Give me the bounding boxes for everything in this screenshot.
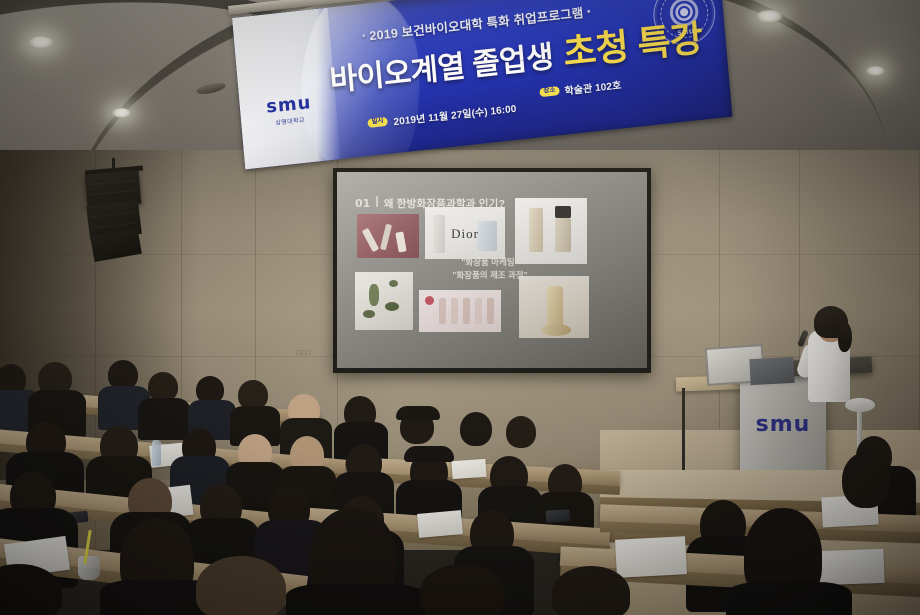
slide-image-dior-perfume: Dior <box>425 207 505 259</box>
audience-head-foreground <box>420 564 504 615</box>
banner-date-pill: 일시 <box>367 117 388 129</box>
smartphone <box>546 509 571 522</box>
slide-divider <box>376 196 378 207</box>
slide-number: 01 <box>355 197 370 210</box>
handout-paper <box>451 459 486 479</box>
slide-image-cosmetic-set-red <box>357 214 419 258</box>
cap-icon <box>396 406 440 420</box>
presenter-hair <box>838 322 852 352</box>
audience-head <box>842 452 890 508</box>
spotlight-icon <box>112 108 131 118</box>
banner-dot-left: ▪ <box>362 31 367 42</box>
slide-image-herbal-ingredients <box>355 272 413 330</box>
slide-center-line-2: "화장품의 제조 과정" <box>415 269 565 282</box>
audience-head-foreground <box>552 566 630 615</box>
lecture-hall-photo: □□□ smu 상명대학교 SMU ▪ 2019 보건바이오대학 <box>0 0 920 615</box>
audience-seating <box>0 360 920 615</box>
banner-dot-right: ▪ <box>587 6 592 17</box>
water-bottle <box>152 440 161 466</box>
slide-center-line-1: "화장품 마케팅" <box>415 256 565 269</box>
audience-torso <box>726 582 852 615</box>
audience-head-foreground <box>196 556 286 615</box>
audience-head <box>460 412 492 446</box>
spotlight-icon <box>28 36 54 49</box>
handout-paper <box>615 536 687 578</box>
slide-title-text: 왜 한방화장품과학과 인기? <box>384 196 505 211</box>
drink-cup <box>78 556 100 580</box>
slide-image-golden-bottle <box>519 276 589 338</box>
audience-torso <box>286 584 426 615</box>
cap-icon <box>404 446 454 462</box>
audience-torso <box>138 398 190 440</box>
spotlight-icon <box>756 10 782 23</box>
slide-image-lipstick-row <box>419 290 501 332</box>
handout-paper <box>417 510 463 538</box>
slide-brand-label: Dior <box>451 226 479 242</box>
slide-image-serum-bottles <box>515 198 587 264</box>
handout-paper <box>817 549 884 585</box>
slide-title-row: 01 왜 한방화장품과학과 인기? <box>355 196 505 211</box>
audience-head <box>506 416 536 448</box>
projection-screen: 01 왜 한방화장품과학과 인기? Dior <box>337 172 647 368</box>
slide-center-text: "화장품 마케팅" "화장품의 제조 과정" <box>415 256 565 282</box>
banner-place-pill: 장소 <box>539 86 560 98</box>
spotlight-icon <box>866 66 885 76</box>
